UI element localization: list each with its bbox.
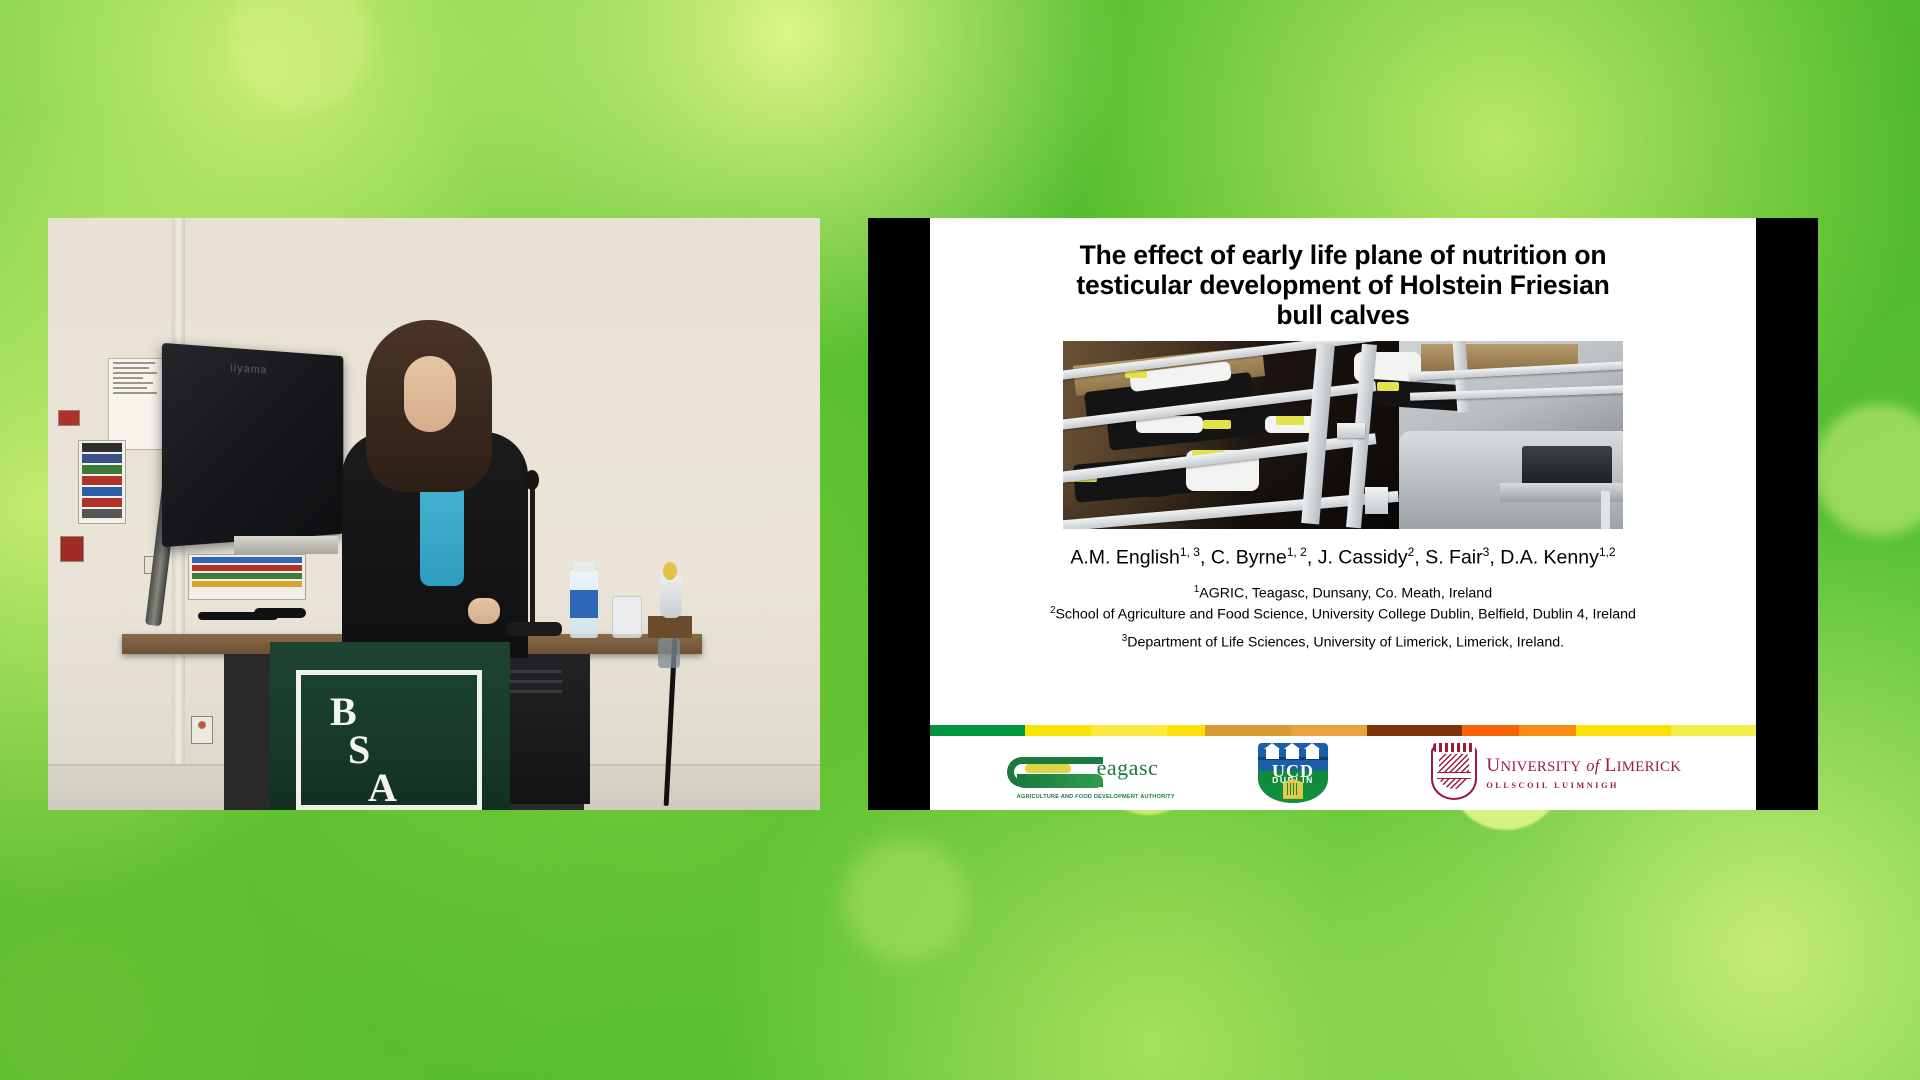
- slide-authors: A.M. English1, 3, C. Byrne1, 2, J. Cassi…: [946, 545, 1740, 570]
- author-name: A.M. English: [1070, 546, 1179, 568]
- award-trophy-finial: [663, 562, 677, 580]
- fire-exit-sign: [58, 410, 80, 426]
- slide-title: The effect of early life plane of nutrit…: [946, 240, 1740, 331]
- bokeh-circle: [230, 0, 370, 110]
- ucd-house-icon: [1306, 748, 1319, 759]
- ul-name-line: UNIVERSITY of LIMERICK: [1486, 756, 1681, 776]
- author-name: C. Byrne: [1211, 546, 1287, 568]
- ul-crest-icon: [1431, 746, 1477, 800]
- affiliation-text: School of Agriculture and Food Science, …: [1055, 607, 1635, 623]
- award-trophy-base: [648, 616, 692, 638]
- monitor-stand-base: [234, 536, 338, 554]
- desk-poster-sheet: [188, 554, 306, 600]
- slide-logo-bar: eagasc AGRICULTURE AND FOOD DEVELOPMENT …: [930, 736, 1756, 810]
- color-strip-segment: [1367, 725, 1462, 736]
- desk-cable-coil: [254, 608, 306, 618]
- affiliation-line: 1AGRIC, Teagasc, Dunsany, Co. Meath, Ire…: [946, 583, 1740, 604]
- slide-photo-calves: [1063, 341, 1623, 529]
- water-bottle-cap: [574, 562, 594, 572]
- wall-warning-sign: [60, 536, 84, 562]
- water-bottle-label: [570, 590, 598, 618]
- monitor-brand-label: iiyama: [230, 362, 267, 376]
- teagasc-logo: eagasc AGRICULTURE AND FOOD DEVELOPMENT …: [1005, 747, 1155, 799]
- ul-wordmark: UNIVERSITY of LIMERICK OLLSCOIL LUIMNIGH: [1486, 756, 1681, 790]
- calf-ear-tag: [1203, 420, 1231, 429]
- presenter-face-front: [404, 356, 456, 432]
- presentation-slide: The effect of early life plane of nutrit…: [930, 218, 1756, 810]
- color-strip-segment: [1291, 725, 1367, 736]
- wall-notice-sheet: [108, 358, 164, 450]
- calf-ear-tag: [1377, 382, 1399, 391]
- teagasc-wordmark: eagasc: [1097, 755, 1159, 781]
- color-strip-segment: [1091, 725, 1167, 736]
- author-name: J. Cassidy: [1318, 546, 1408, 568]
- lectern-banner-letter: S: [388, 800, 410, 810]
- color-strip-segment: [1462, 725, 1519, 736]
- color-strip-segment: [1205, 725, 1290, 736]
- slide-affiliations: 1AGRIC, Teagasc, Dunsany, Co. Meath, Ire…: [946, 583, 1740, 653]
- author-affil-marker: 2: [1408, 545, 1415, 559]
- ul-crest-torse: [1433, 743, 1475, 752]
- speaker-video-feed[interactable]: iiyama B S A S: [48, 218, 820, 810]
- feed-station-cable: [1601, 491, 1610, 529]
- pen-gate-latch: [1365, 487, 1387, 513]
- lectern-banner-letter: S: [348, 726, 370, 773]
- safety-poster: [78, 440, 126, 524]
- ul-limerick: IMERICK: [1617, 759, 1682, 775]
- letterbox-pillar-right: [1756, 218, 1818, 810]
- presenter-hand: [468, 598, 500, 624]
- cable-tie: [658, 638, 680, 668]
- color-strip-segment: [1519, 725, 1576, 736]
- bokeh-circle: [843, 838, 967, 962]
- feed-bucket: [1125, 480, 1181, 497]
- ul-of: of: [1586, 756, 1599, 775]
- slide-color-strip: [930, 725, 1756, 736]
- author-affil-marker: 1, 2: [1287, 545, 1307, 559]
- color-strip-segment: [1671, 725, 1756, 736]
- microphone-stem: [530, 476, 535, 626]
- color-strip-segment: [1025, 725, 1091, 736]
- teagasc-tagline: AGRICULTURE AND FOOD DEVELOPMENT AUTHORI…: [1017, 794, 1175, 800]
- award-trophy-body: [660, 576, 682, 618]
- color-strip-segment: [930, 725, 1025, 736]
- ul-gaelic-name: OLLSCOIL LUIMNIGH: [1486, 781, 1681, 790]
- affiliation-text: AGRIC, Teagasc, Dunsany, Co. Meath, Irel…: [1199, 586, 1492, 602]
- color-strip-segment: [1167, 725, 1205, 736]
- drinking-glass: [612, 596, 642, 638]
- ul-university: NIVERSITY: [1500, 759, 1581, 775]
- power-indicator-light: [198, 721, 206, 729]
- author-affil-marker: 3: [1483, 545, 1490, 559]
- slide-video-feed[interactable]: The effect of early life plane of nutrit…: [868, 218, 1818, 810]
- ucd-harp-icon: [1283, 779, 1303, 799]
- ul-crest-shield: [1431, 746, 1477, 800]
- slide-title-line: The effect of early life plane of nutrit…: [946, 240, 1740, 270]
- ul-u: U: [1486, 755, 1500, 776]
- ul-crest-fess: [1437, 772, 1471, 779]
- affiliation-line: 3Department of Life Sciences, University…: [946, 632, 1740, 653]
- author-name: D.A. Kenny: [1500, 546, 1599, 568]
- ucd-dublin-logo: UCD DUBLIN: [1256, 741, 1330, 805]
- microphone-base: [506, 622, 562, 636]
- affiliation-text: Department of Life Sciences, University …: [1127, 635, 1564, 651]
- ucd-shield-icon: UCD DUBLIN: [1256, 741, 1330, 805]
- presenter-monitor: iiyama: [162, 343, 343, 547]
- author-affil-marker: 1,2: [1599, 545, 1616, 559]
- university-of-limerick-logo: UNIVERSITY of LIMERICK OLLSCOIL LUIMNIGH: [1431, 744, 1681, 802]
- affiliation-spacer: [946, 625, 1740, 632]
- presentation-recording-stage: iiyama B S A S: [0, 0, 1920, 1080]
- slide-title-line: testicular development of Holstein Fries…: [946, 270, 1740, 300]
- teagasc-gold-accent-icon: [1025, 764, 1071, 773]
- ul-l: L: [1605, 755, 1617, 776]
- teagasc-leaf-icon: [1017, 774, 1103, 788]
- author-affil-marker: 1, 3: [1180, 545, 1200, 559]
- affiliation-line: 2School of Agriculture and Food Science,…: [946, 604, 1740, 625]
- ucd-house-icon: [1286, 748, 1299, 759]
- pen-gate-hinge: [1337, 423, 1365, 438]
- slide-title-line: bull calves: [946, 300, 1740, 330]
- author-name: S. Fair: [1425, 546, 1482, 568]
- bokeh-circle: [1814, 404, 1920, 536]
- ucd-house-icon: [1266, 748, 1279, 759]
- color-strip-segment: [1576, 725, 1671, 736]
- letterbox-pillar-left: [868, 218, 930, 810]
- calf-ear-tag: [1276, 416, 1304, 425]
- microphone-head: [525, 470, 539, 490]
